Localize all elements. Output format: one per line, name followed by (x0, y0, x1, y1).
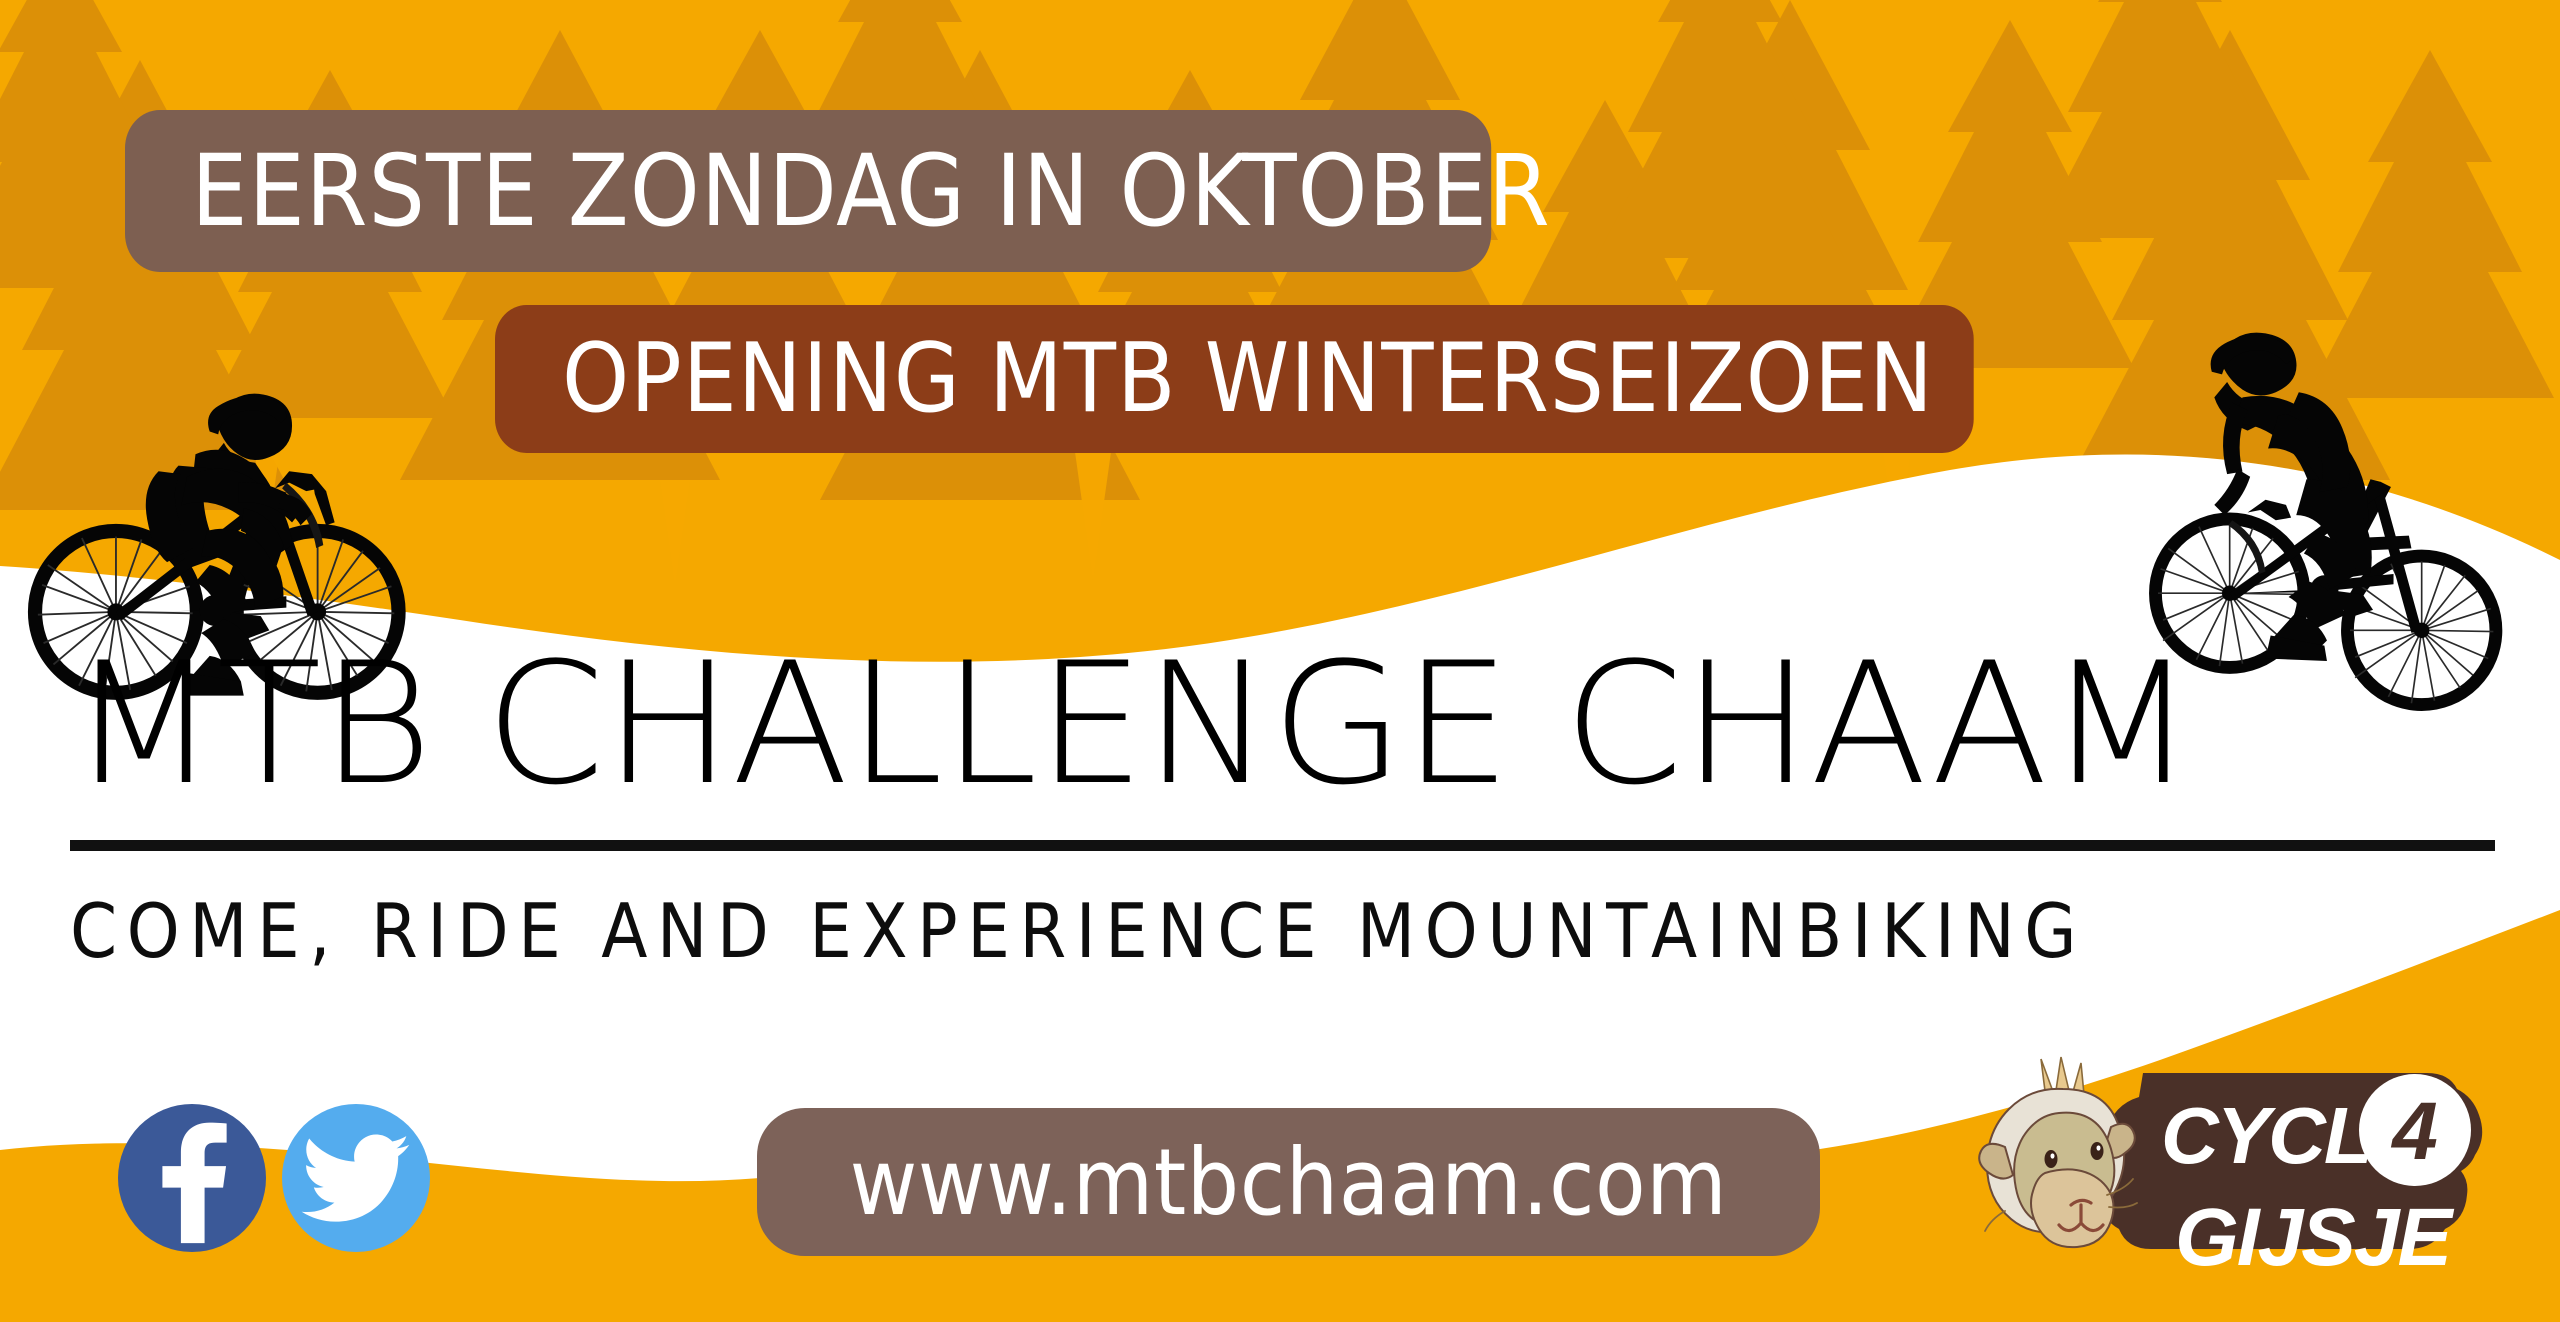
headline-block: MTB CHALLENGE CHAAM COME, RIDE AND EXPER… (70, 640, 2500, 975)
svg-text:CYCLE: CYCLE (2161, 1091, 2427, 1180)
page-title: MTB CHALLENGE CHAAM (70, 640, 2549, 808)
page-subtitle: COME, RIDE AND EXPERIENCE MOUNTAINBIKING (70, 887, 2500, 975)
logo-number-4: 4 (2390, 1086, 2438, 1177)
badge-date-label: EERSTE ZONDAG IN OKTOBER (191, 134, 1550, 249)
website-url-badge[interactable]: www.mtbchaam.com (757, 1108, 1820, 1256)
badge-opening-label: OPENING MTB WINTERSEIZOEN (562, 324, 1934, 434)
title-divider (70, 840, 2495, 851)
logo-wordmark-line1: CYCLE (2161, 1091, 2427, 1180)
sponsor-logo-cycle4gijsje[interactable]: CYCLE 4 GIJSJE (1975, 1055, 2530, 1310)
badge-opening-winterseizoen: OPENING MTB WINTERSEIZOEN (495, 305, 1974, 453)
website-url-label: www.mtbchaam.com (850, 1129, 1728, 1236)
svg-text:GIJSJE: GIJSJE (2175, 1192, 2454, 1283)
logo-wordmark-line2: GIJSJE (2175, 1192, 2454, 1283)
facebook-link[interactable] (118, 1104, 266, 1252)
mtb-challenge-banner: EERSTE ZONDAG IN OKTOBER OPENING MTB WIN… (0, 0, 2560, 1322)
badge-eerste-zondag: EERSTE ZONDAG IN OKTOBER (125, 110, 1491, 272)
facebook-icon (118, 1104, 266, 1252)
twitter-link[interactable] (282, 1104, 430, 1252)
twitter-icon (282, 1104, 430, 1252)
cycle4gijsje-logo: CYCLE 4 GIJSJE (1975, 1055, 2530, 1310)
